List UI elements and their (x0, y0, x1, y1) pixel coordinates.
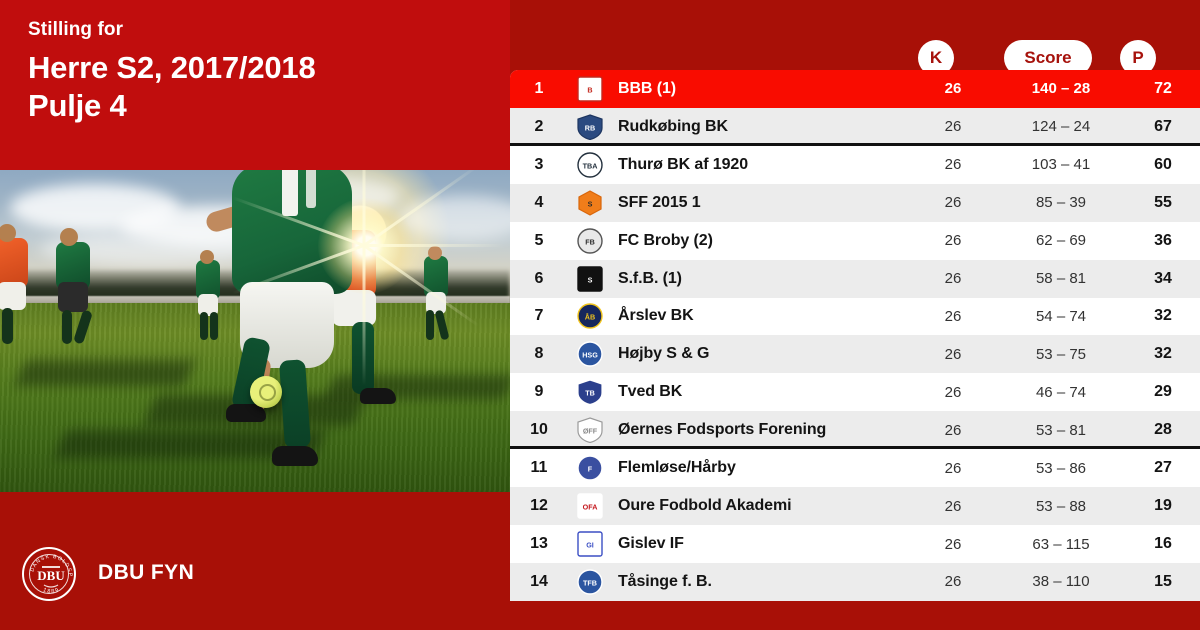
row-points: 55 (1126, 194, 1200, 212)
row-score: 85 – 39 (996, 194, 1126, 211)
svg-text:TFB: TFB (583, 578, 597, 587)
table-row[interactable]: 1 BBBB (1)26140 – 2872 (510, 70, 1200, 108)
row-score: 63 – 115 (996, 536, 1126, 553)
fc-broby-logo: FB (568, 228, 612, 254)
row-score: 38 – 110 (996, 573, 1126, 590)
row-matches: 26 (910, 80, 996, 97)
row-team-name[interactable]: Tåsinge f. B. (612, 573, 910, 591)
row-position: 11 (510, 459, 568, 477)
row-team-name[interactable]: BBB (1) (612, 80, 910, 98)
row-team-name[interactable]: FC Broby (2) (612, 232, 910, 250)
flemlose-harby-logo: F (568, 455, 612, 481)
row-matches: 26 (910, 118, 996, 135)
svg-text:OFA: OFA (583, 503, 598, 512)
dbu-seal-svg: DANSK BOLDSPIL UNION 1889 DBU (24, 549, 78, 603)
sff-2015-logo: S (568, 190, 612, 216)
row-score: 58 – 81 (996, 270, 1126, 287)
svg-text:RB: RB (585, 123, 595, 132)
row-score: 62 – 69 (996, 232, 1126, 249)
sun-ray (363, 246, 366, 386)
thuro-bk-logo: TBA (568, 152, 612, 178)
row-score: 53 – 88 (996, 498, 1126, 515)
svg-text:GI: GI (586, 541, 594, 550)
table-row[interactable]: 8 HSGHøjby S & G2653 – 7532 (510, 335, 1200, 373)
table-row[interactable]: 14 TFBTåsinge f. B.2638 – 11015 (510, 563, 1200, 601)
row-team-name[interactable]: Flemløse/Hårby (612, 459, 910, 477)
title-line-2: Pulje 4 (28, 87, 488, 125)
row-team-name[interactable]: S.f.B. (1) (612, 270, 910, 288)
left-panel: Stilling for Herre S2, 2017/2018 Pulje 4 (0, 0, 510, 630)
row-points: 60 (1126, 156, 1200, 174)
page-title: Herre S2, 2017/2018 Pulje 4 (28, 49, 488, 125)
row-points: 15 (1126, 573, 1200, 591)
svg-text:DBU: DBU (37, 568, 65, 583)
football (250, 376, 282, 408)
row-team-name[interactable]: Højby S & G (612, 345, 910, 363)
row-matches: 26 (910, 498, 996, 515)
row-points: 34 (1126, 270, 1200, 288)
row-points: 32 (1126, 307, 1200, 325)
row-team-name[interactable]: Tved BK (612, 383, 910, 401)
title-block: Stilling for Herre S2, 2017/2018 Pulje 4 (28, 20, 488, 125)
table-row[interactable]: 10 ØFFØernes Fodsports Forening2653 – 81… (510, 411, 1200, 449)
row-position: 7 (510, 307, 568, 325)
table-row[interactable]: 12 OFAOure Fodbold Akademi2653 – 8819 (510, 487, 1200, 525)
boot (272, 446, 318, 466)
title-line-1: Herre S2, 2017/2018 (28, 50, 316, 85)
table-header: K Score P (510, 0, 1200, 70)
sun-ray (363, 170, 366, 246)
row-points: 27 (1126, 459, 1200, 477)
row-position: 12 (510, 497, 568, 515)
bbb-club-logo: B (568, 76, 612, 102)
row-matches: 26 (910, 422, 996, 439)
orange-player-shorts (332, 290, 376, 326)
gislev-if-logo: GI (568, 531, 612, 557)
svg-text:TB: TB (585, 389, 595, 398)
svg-text:B: B (587, 85, 592, 94)
row-matches: 26 (910, 573, 996, 590)
row-position: 1 (510, 80, 568, 98)
row-score: 53 – 86 (996, 460, 1126, 477)
table-row[interactable]: 9 TBTved BK2646 – 7429 (510, 373, 1200, 411)
row-score: 103 – 41 (996, 156, 1126, 173)
table-row[interactable]: 6 SS.f.B. (1)2658 – 8134 (510, 260, 1200, 298)
row-team-name[interactable]: Oure Fodbold Akademi (612, 497, 910, 515)
row-position: 2 (510, 118, 568, 136)
tved-bk-logo: TB (568, 379, 612, 405)
table-row[interactable]: 2 RBRudkøbing BK26124 – 2467 (510, 108, 1200, 146)
row-position: 13 (510, 535, 568, 553)
svg-text:S: S (588, 199, 593, 208)
row-position: 9 (510, 383, 568, 401)
football-match-photo (0, 170, 510, 492)
table-row[interactable]: 13 GIGislev IF2663 – 11516 (510, 525, 1200, 563)
boot (360, 388, 396, 404)
row-matches: 26 (910, 346, 996, 363)
row-points: 16 (1126, 535, 1200, 553)
sun-ray (364, 244, 504, 247)
row-matches: 26 (910, 156, 996, 173)
tasinge-fb-logo: TFB (568, 569, 612, 595)
row-position: 5 (510, 232, 568, 250)
row-matches: 26 (910, 536, 996, 553)
table-row[interactable]: 11 FFlemløse/Hårby2653 – 8627 (510, 449, 1200, 487)
standings-graphic: Stilling for Herre S2, 2017/2018 Pulje 4 (0, 0, 1200, 630)
arslev-bk-logo: ÅB (568, 303, 612, 329)
row-score: 140 – 28 (996, 80, 1126, 97)
row-points: 19 (1126, 497, 1200, 515)
oernes-ff-logo: ØFF (568, 417, 612, 443)
svg-text:F: F (588, 465, 593, 474)
shadow (15, 360, 196, 386)
row-team-name[interactable]: SFF 2015 1 (612, 194, 910, 212)
row-score: 46 – 74 (996, 384, 1126, 401)
svg-text:TBA: TBA (583, 161, 598, 170)
svg-text:FB: FB (585, 237, 595, 246)
row-points: 72 (1126, 80, 1200, 98)
row-matches: 26 (910, 194, 996, 211)
hojby-sg-logo: HSG (568, 341, 612, 367)
svg-text:S: S (588, 275, 593, 284)
row-position: 14 (510, 573, 568, 591)
row-position: 6 (510, 270, 568, 288)
row-matches: 26 (910, 232, 996, 249)
svg-text:ÅB: ÅB (585, 313, 595, 322)
row-position: 8 (510, 345, 568, 363)
table-row[interactable]: 5 FBFC Broby (2)2662 – 6936 (510, 222, 1200, 260)
row-matches: 26 (910, 460, 996, 477)
svg-text:HSG: HSG (582, 351, 598, 360)
standings-table: 1 BBBB (1)26140 – 28722 RBRudkøbing BK26… (510, 70, 1200, 601)
shirt-stripe (282, 170, 298, 216)
row-points: 36 (1126, 232, 1200, 250)
row-team-name[interactable]: Rudkøbing BK (612, 118, 910, 136)
row-points: 28 (1126, 421, 1200, 439)
row-points: 29 (1126, 383, 1200, 401)
row-score: 53 – 75 (996, 346, 1126, 363)
row-points: 67 (1126, 118, 1200, 136)
kicker-label: Stilling for (28, 20, 488, 41)
table-row[interactable]: 7 ÅBÅrslev BK2654 – 7432 (510, 298, 1200, 336)
oure-fodbold-akademi-logo: OFA (568, 493, 612, 519)
row-position: 3 (510, 156, 568, 174)
row-points: 32 (1126, 345, 1200, 363)
row-score: 124 – 24 (996, 118, 1126, 135)
brand-name: DBU FYN (98, 561, 194, 585)
row-team-name[interactable]: Årslev BK (612, 307, 910, 325)
svg-text:1889: 1889 (42, 587, 61, 595)
shirt-stripe (306, 170, 316, 208)
row-team-name[interactable]: Øernes Fodsports Forening (612, 421, 910, 439)
sfb-logo: S (568, 266, 612, 292)
row-score: 54 – 74 (996, 308, 1126, 325)
dbu-seal-logo: DANSK BOLDSPIL UNION 1889 DBU (22, 547, 76, 601)
row-position: 4 (510, 194, 568, 212)
row-team-name[interactable]: Gislev IF (612, 535, 910, 553)
svg-text:ØFF: ØFF (583, 427, 598, 436)
row-matches: 26 (910, 308, 996, 325)
table-row[interactable]: 3 TBAThurø BK af 192026103 – 4160 (510, 146, 1200, 184)
row-team-name[interactable]: Thurø BK af 1920 (612, 156, 910, 174)
rudkobing-bk-logo: RB (568, 114, 612, 140)
row-score: 53 – 81 (996, 422, 1126, 439)
table-row[interactable]: 4 SSFF 2015 12685 – 3955 (510, 184, 1200, 222)
row-matches: 26 (910, 270, 996, 287)
row-matches: 26 (910, 384, 996, 401)
row-position: 10 (510, 421, 568, 439)
standings-rows: 1 BBBB (1)26140 – 28722 RBRudkøbing BK26… (510, 70, 1200, 601)
